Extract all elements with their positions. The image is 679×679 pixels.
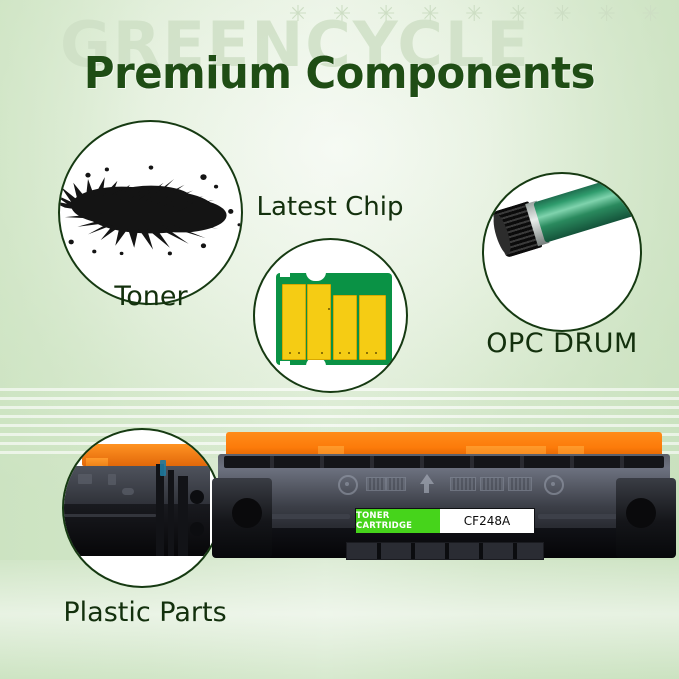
feature-circle-plastic-parts [62, 428, 222, 588]
circuit-chip-icon [276, 273, 392, 365]
cartridge-rail-left [270, 514, 350, 519]
cartridge-circle-icon-right [544, 475, 564, 495]
feature-circle-opc-drum [482, 172, 642, 332]
cartridge-up-arrow-icon [420, 474, 434, 484]
plastic-parts-icon [64, 430, 220, 586]
cartridge-up-arrow-stem [424, 484, 429, 493]
cartridge-molded-icon-row [338, 474, 568, 494]
cartridge-gear-right [626, 498, 656, 528]
cartridge-square-icon-5 [508, 477, 532, 491]
cartridge-rail-right [538, 514, 618, 519]
cartridge-top-vent-band [224, 456, 664, 468]
toner-powder-icon [58, 158, 243, 263]
opc-drum-icon [492, 172, 642, 265]
cartridge-square-icon-1 [366, 477, 386, 491]
label-badge: TONER CARTRIDGE [356, 509, 440, 533]
feature-label-chip: Latest Chip [230, 192, 430, 222]
cartridge-product-label: TONER CARTRIDGE CF248A [355, 508, 535, 534]
product-feature-graphic: GREENCYCLE ✳ ✳ ✳ ✳ ✳ ✳ ✳ ✳ ✳ Premium Com… [0, 0, 679, 679]
feature-label-plastic-parts: Plastic Parts [20, 597, 270, 628]
cartridge-square-icon-3 [450, 477, 476, 491]
toner-cartridge-product-image: TONER CARTRIDGE CF248A [218, 432, 670, 577]
cartridge-grille [346, 542, 544, 560]
label-model-code: CF248A [440, 514, 534, 528]
feature-label-opc-drum: OPC DRUM [472, 328, 652, 359]
page-title: Premium Components [17, 48, 662, 99]
cartridge-square-icon-2 [386, 477, 406, 491]
feature-circle-toner [58, 120, 243, 305]
cartridge-gear-left [232, 498, 262, 528]
cartridge-square-icon-4 [480, 477, 504, 491]
asterisk-row-decoration: ✳ ✳ ✳ ✳ ✳ ✳ ✳ ✳ ✳ [289, 2, 669, 27]
feature-circle-chip [253, 238, 408, 393]
cartridge-circle-icon-left [338, 475, 358, 495]
feature-label-toner: Toner [36, 281, 266, 312]
